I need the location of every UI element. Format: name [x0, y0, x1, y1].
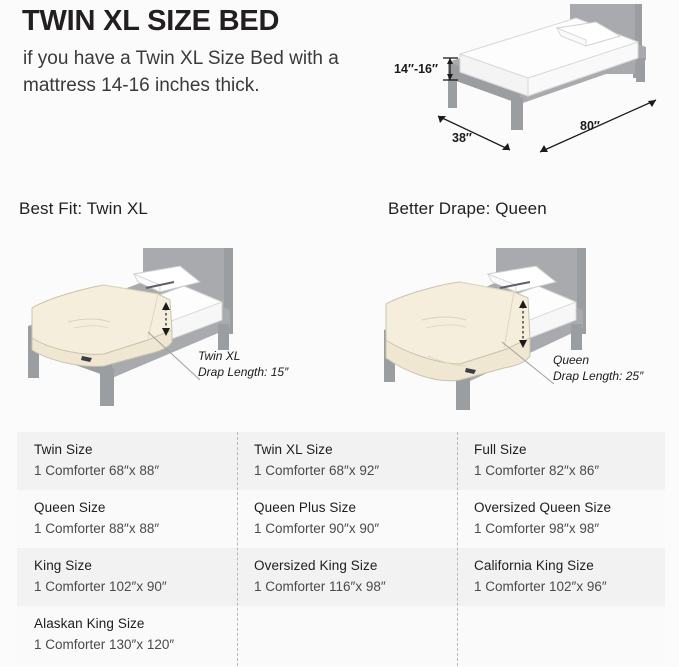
table-cell: Twin Size 1 Comforter 68″x 88″: [17, 432, 237, 490]
infographic-page: TWIN XL SIZE BED if you have a Twin XL S…: [0, 0, 679, 667]
size-name: Full Size: [474, 442, 665, 459]
size-dimensions: 1 Comforter 98″x 98″: [474, 519, 665, 539]
size-name: Oversized Queen Size: [474, 500, 665, 517]
comforter-size-table: Twin Size 1 Comforter 68″x 88″ Twin XL S…: [17, 432, 665, 666]
section-heading-better-drape: Better Drape: Queen: [388, 199, 547, 219]
queen-drape-label: Drap Length: 25″: [553, 369, 644, 383]
size-dimensions: 1 Comforter 68″x 88″: [34, 461, 237, 481]
size-name: King Size: [34, 558, 237, 575]
size-name: Twin Size: [34, 442, 237, 459]
table-cell: Queen Size 1 Comforter 88″x 88″: [17, 490, 237, 548]
table-cell: [237, 606, 457, 666]
table-cell: [457, 606, 665, 666]
size-dimensions: 1 Comforter 116″x 98″: [254, 577, 457, 597]
page-title: TWIN XL SIZE BED: [22, 6, 279, 38]
size-name: Queen Size: [34, 500, 237, 517]
size-name: Twin XL Size: [254, 442, 457, 459]
table-cell: Oversized Queen Size 1 Comforter 98″x 98…: [457, 490, 665, 548]
table-cell: Queen Plus Size 1 Comforter 90″x 90″: [237, 490, 457, 548]
top-bed-diagram: 14″-16″ 38″ 80″: [380, 0, 679, 180]
table-cell: Alaskan King Size 1 Comforter 130″x 120″: [17, 606, 237, 666]
bed-length-label: 80″: [580, 119, 600, 133]
table-cell: Twin XL Size 1 Comforter 68″x 92″: [237, 432, 457, 490]
section-heading-best-fit: Best Fit: Twin XL: [19, 199, 148, 219]
size-dimensions: 1 Comforter 88″x 88″: [34, 519, 237, 539]
bed-width-label: 38″: [452, 131, 472, 145]
table-cell: King Size 1 Comforter 102″x 90″: [17, 548, 237, 606]
table-cell: Full Size 1 Comforter 82″x 86″: [457, 432, 665, 490]
size-name: Alaskan King Size: [34, 616, 237, 633]
size-dimensions: 1 Comforter 90″x 90″: [254, 519, 457, 539]
size-dimensions: 1 Comforter 82″x 86″: [474, 461, 665, 481]
size-dimensions: 1 Comforter 102″x 90″: [34, 577, 237, 597]
twin-xl-drape-label: Drap Length: 15″: [198, 365, 289, 379]
size-dimensions: 1 Comforter 68″x 92″: [254, 461, 457, 481]
table-cell: Oversized King Size 1 Comforter 116″x 98…: [237, 548, 457, 606]
page-subtitle: if you have a Twin XL Size Bed with a ma…: [23, 46, 341, 100]
queen-drape-diagram: Queen Drap Length: 25″: [368, 238, 679, 418]
twin-xl-size-label: Twin XL: [198, 349, 240, 363]
size-dimensions: 1 Comforter 130″x 120″: [34, 635, 237, 655]
twin-xl-drape-diagram: Twin XL Drap Length: 15″: [8, 238, 348, 418]
size-dimensions: 1 Comforter 102″x 96″: [474, 577, 665, 597]
table-cell: California King Size 1 Comforter 102″x 9…: [457, 548, 665, 606]
bed-height-label: 14″-16″: [394, 62, 438, 76]
size-name: California King Size: [474, 558, 665, 575]
table-column-divider: [237, 432, 238, 666]
table-column-divider: [457, 432, 458, 666]
queen-size-label: Queen: [553, 353, 589, 367]
size-name: Oversized King Size: [254, 558, 457, 575]
size-name: Queen Plus Size: [254, 500, 457, 517]
